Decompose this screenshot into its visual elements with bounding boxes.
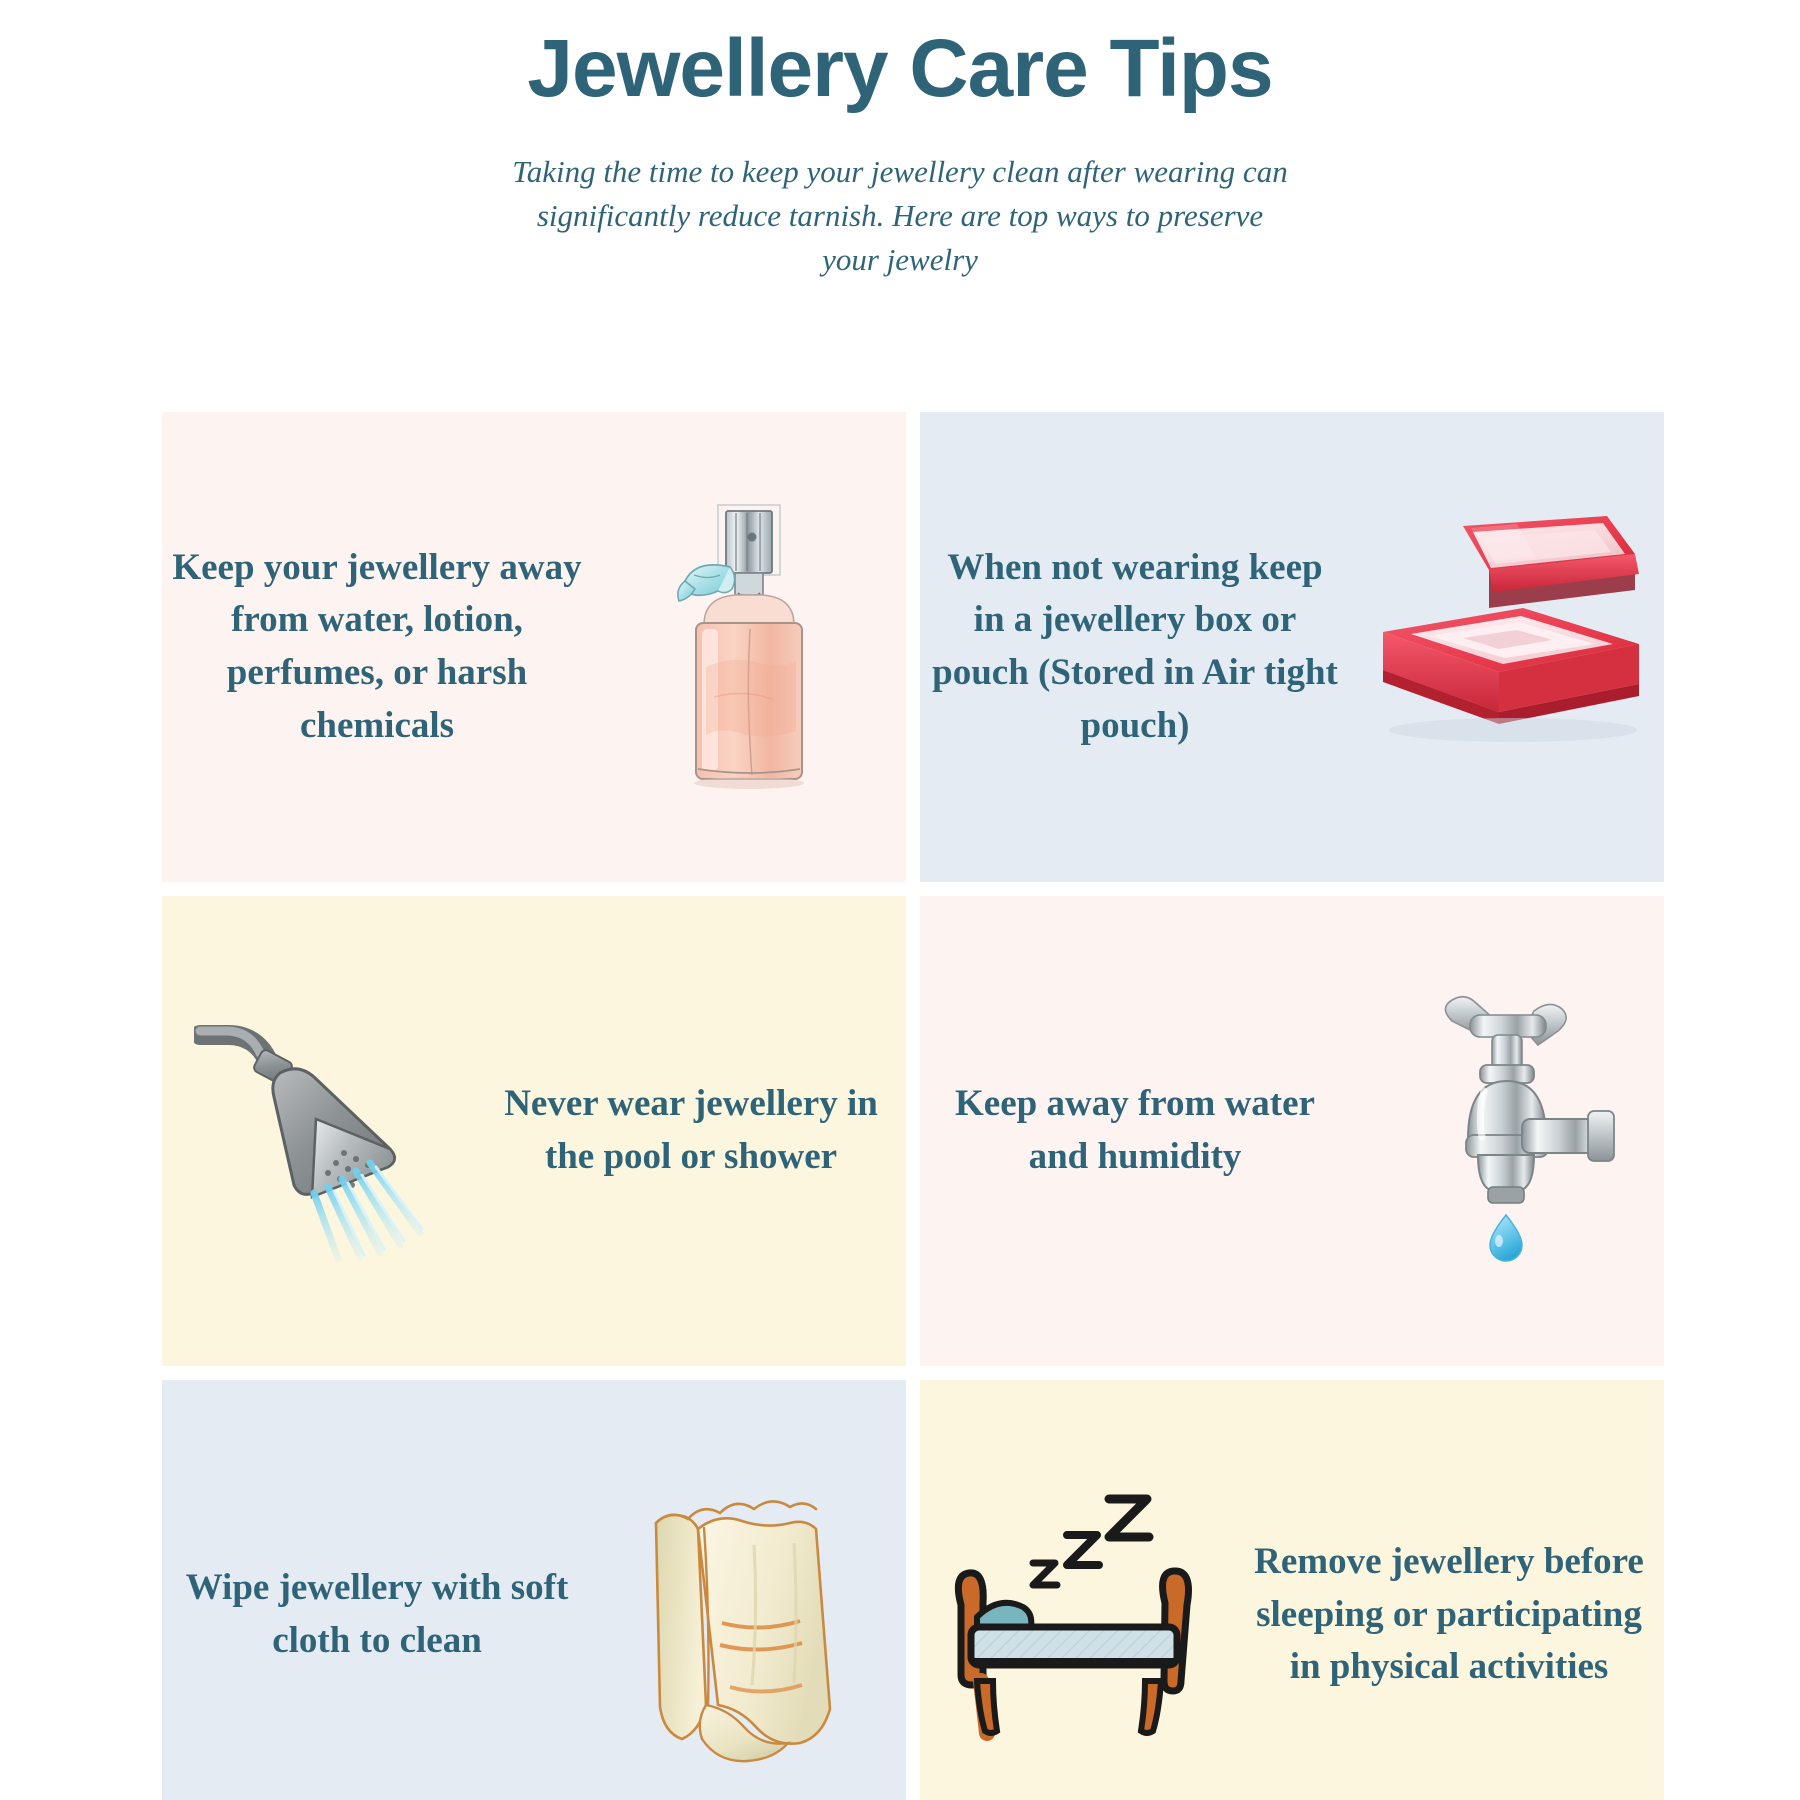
shower-head-icon [194, 1001, 444, 1261]
tip-card-sleep-art [920, 1380, 1234, 1800]
tip-card-humidity-label: Keep away from water and humidity [920, 1078, 1350, 1183]
bed-sleep-icon [937, 1485, 1217, 1745]
tip-card-humidity[interactable]: Keep away from water and humidity [920, 896, 1664, 1366]
page-title: Jewellery Care Tips [0, 26, 1800, 112]
tip-card-storage-label: When not wearing keep in a jewellery box… [920, 542, 1350, 752]
tip-card-wipe-label: Wipe jewellery with soft cloth to clean [162, 1562, 592, 1667]
tip-card-shower-art [162, 896, 476, 1366]
tip-card-storage[interactable]: When not wearing keep in a jewellery box… [920, 412, 1664, 882]
tips-grid: Keep your jewellery away from water, lot… [162, 412, 1640, 1800]
tip-card-storage-art [1350, 412, 1664, 882]
tip-card-chemicals-art [592, 412, 906, 882]
tip-card-shower-label: Never wear jewellery in the pool or show… [476, 1078, 906, 1183]
perfume-bottle-icon [634, 497, 864, 797]
tip-card-wipe[interactable]: Wipe jewellery with soft cloth to clean [162, 1380, 906, 1800]
tip-card-sleep-label: Remove jewellery before sleeping or part… [1234, 1536, 1664, 1694]
tip-card-shower[interactable]: Never wear jewellery in the pool or show… [162, 896, 906, 1366]
faucet-icon [1392, 991, 1622, 1271]
tip-card-wipe-art [592, 1380, 906, 1800]
tip-card-humidity-art [1350, 896, 1664, 1366]
jewellery-box-icon [1367, 512, 1647, 782]
cloth-icon [634, 1465, 864, 1765]
page-subtitle: Taking the time to keep your jewellery c… [505, 150, 1295, 282]
infographic-page: Jewellery Care Tips Taking the time to k… [0, 0, 1800, 1800]
header: Jewellery Care Tips Taking the time to k… [0, 0, 1800, 282]
tip-card-chemicals-label: Keep your jewellery away from water, lot… [162, 542, 592, 752]
tip-card-sleep[interactable]: Remove jewellery before sleeping or part… [920, 1380, 1664, 1800]
tip-card-chemicals[interactable]: Keep your jewellery away from water, lot… [162, 412, 906, 882]
